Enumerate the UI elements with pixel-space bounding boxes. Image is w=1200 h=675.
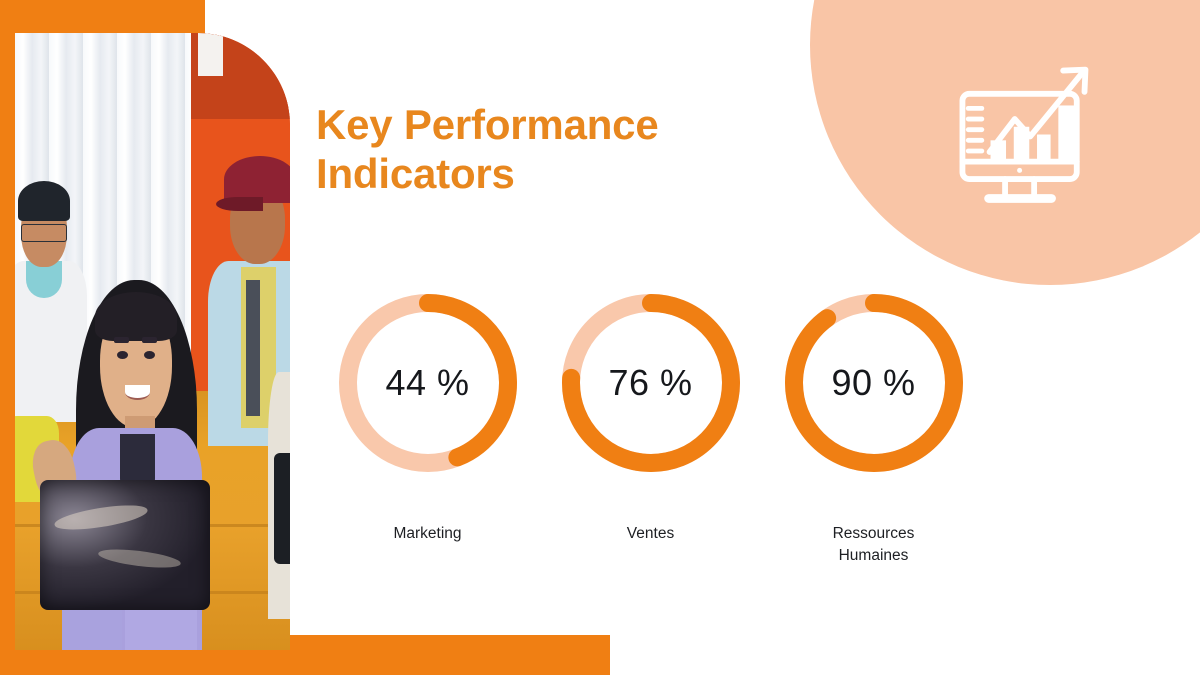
monitor-growth-chart-icon [945, 55, 1100, 215]
kpi-donut-row: 44 % Marketing 76 % Ventes 90 % [316, 293, 986, 568]
team-on-couch-photo [15, 33, 290, 650]
kpi-label-marketing: Marketing [393, 523, 461, 545]
donut-chart-ressources-humaines: 90 % [784, 293, 964, 473]
kpi-item-ressources-humaines: 90 % Ressources Humaines [762, 293, 985, 568]
kpi-value-ressources-humaines: 90 % [784, 293, 964, 473]
kpi-label-ventes: Ventes [627, 523, 674, 545]
page-title-line-2: Indicators [316, 149, 836, 198]
kpi-label-ressources-humaines: Ressources Humaines [799, 523, 949, 568]
kpi-item-ventes: 76 % Ventes [539, 293, 762, 545]
kpi-value-marketing: 44 % [338, 293, 518, 473]
kpi-slide: Key Performance Indicators 44 % Marketin… [0, 0, 1200, 675]
kpi-value-ventes: 76 % [561, 293, 741, 473]
page-title: Key Performance Indicators [316, 100, 836, 198]
donut-chart-marketing: 44 % [338, 293, 518, 473]
page-title-line-1: Key Performance [316, 100, 836, 149]
donut-chart-ventes: 76 % [561, 293, 741, 473]
kpi-item-marketing: 44 % Marketing [316, 293, 539, 545]
